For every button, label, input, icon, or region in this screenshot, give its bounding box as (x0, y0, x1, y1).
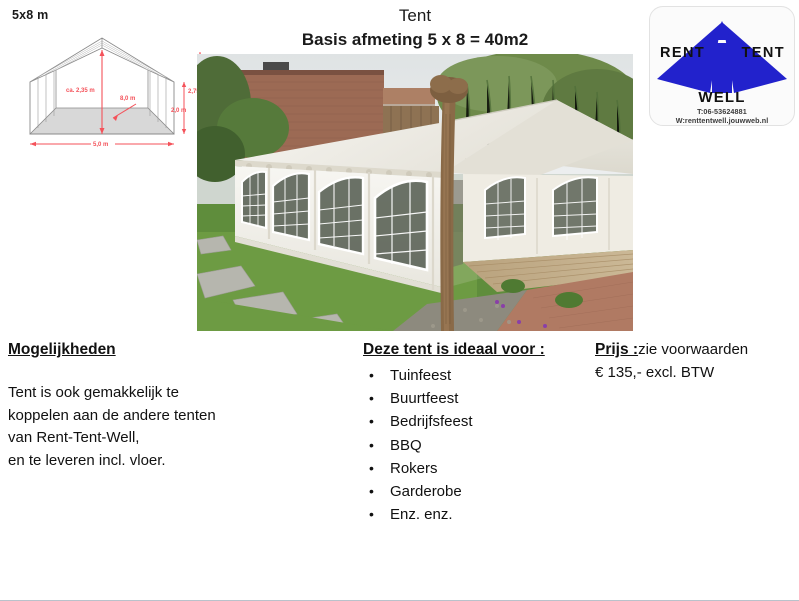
list-item-label: Tuinfeest (390, 367, 451, 384)
tent-photo (197, 54, 633, 331)
bullet-icon: • (369, 434, 374, 457)
schematic-drawing: ca. 2,35 m 8,0 m 2,0 m 2,75 m 5,0 m (8, 30, 213, 150)
logo-text-rent: RENT (660, 45, 705, 61)
tent-photo-image (197, 54, 633, 331)
ideal-for-list: •Tuinfeest •Buurtfeest •Bedrijfsfeest •B… (363, 364, 588, 526)
page-title: Tent Basis afmeting 5 x 8 = 40m2 (230, 4, 600, 52)
bullet-icon: • (369, 364, 374, 387)
possibilities-line: Tent is ook gemakkelijk te (8, 382, 328, 405)
price-column: Prijs :zie voorwaarden € 135,- excl. BTW (595, 340, 795, 384)
list-item: •Garderobe (363, 480, 588, 503)
bullet-icon: • (369, 387, 374, 410)
bullet-icon: • (369, 480, 374, 503)
list-item-label: Bedrijfsfeest (390, 413, 473, 430)
logo-website: W:renttentwell.jouwweb.nl (650, 116, 794, 125)
possibilities-line: van Rent-Tent-Well, (8, 427, 328, 450)
list-item-label: Garderobe (390, 483, 462, 500)
logo-text-well: WELL (650, 89, 794, 106)
list-item: •Rokers (363, 457, 588, 480)
logo-phone-number: T:06-53624881 (650, 107, 794, 116)
ideal-for-heading: Deze tent is ideaal voor : (363, 340, 545, 360)
company-logo: RENT TENT WELL T:06-53624881 W:renttentw… (649, 6, 795, 126)
list-item: •Bedrijfsfeest (363, 410, 588, 433)
ideal-for-column: Deze tent is ideaal voor : •Tuinfeest •B… (363, 340, 588, 526)
possibilities-column: Mogelijkheden Tent is ook gemakkelijk te… (8, 340, 328, 472)
possibilities-heading: Mogelijkheden (8, 340, 116, 360)
possibilities-line: koppelen aan de andere tenten (8, 405, 328, 428)
svg-text:8,0 m: 8,0 m (120, 96, 135, 102)
title-primary: Tent (230, 4, 600, 28)
svg-text:ca. 2,35 m: ca. 2,35 m (66, 88, 95, 94)
bullet-icon: • (369, 503, 374, 526)
price-heading-row: Prijs :zie voorwaarden (595, 340, 795, 360)
list-item: •Tuinfeest (363, 364, 588, 387)
svg-text:5,0 m: 5,0 m (93, 142, 108, 148)
list-item: •Enz. enz. (363, 503, 588, 526)
list-item-label: Buurtfeest (390, 390, 458, 407)
list-item: •BBQ (363, 434, 588, 457)
possibilities-body: Tent is ook gemakkelijk te koppelen aan … (8, 382, 328, 472)
possibilities-line: en te leveren incl. vloer. (8, 450, 328, 473)
title-subtitle: Basis afmeting 5 x 8 = 40m2 (230, 28, 600, 52)
list-item-label: Enz. enz. (390, 506, 453, 523)
logo-text-tent: TENT (742, 45, 785, 61)
svg-text:2,0 m: 2,0 m (171, 108, 186, 114)
bullet-icon: • (369, 410, 374, 433)
list-item-label: Rokers (390, 460, 438, 477)
price-conditions: zie voorwaarden (638, 341, 748, 358)
bullet-icon: • (369, 457, 374, 480)
slide-page: 5x8 m (0, 0, 799, 601)
tent-schematic: 5x8 m (8, 8, 213, 148)
list-item-label: BBQ (390, 437, 422, 454)
price-heading: Prijs : (595, 340, 638, 360)
price-amount: € 135,- excl. BTW (595, 362, 795, 384)
schematic-caption: 5x8 m (12, 8, 213, 22)
list-item: •Buurtfeest (363, 387, 588, 410)
